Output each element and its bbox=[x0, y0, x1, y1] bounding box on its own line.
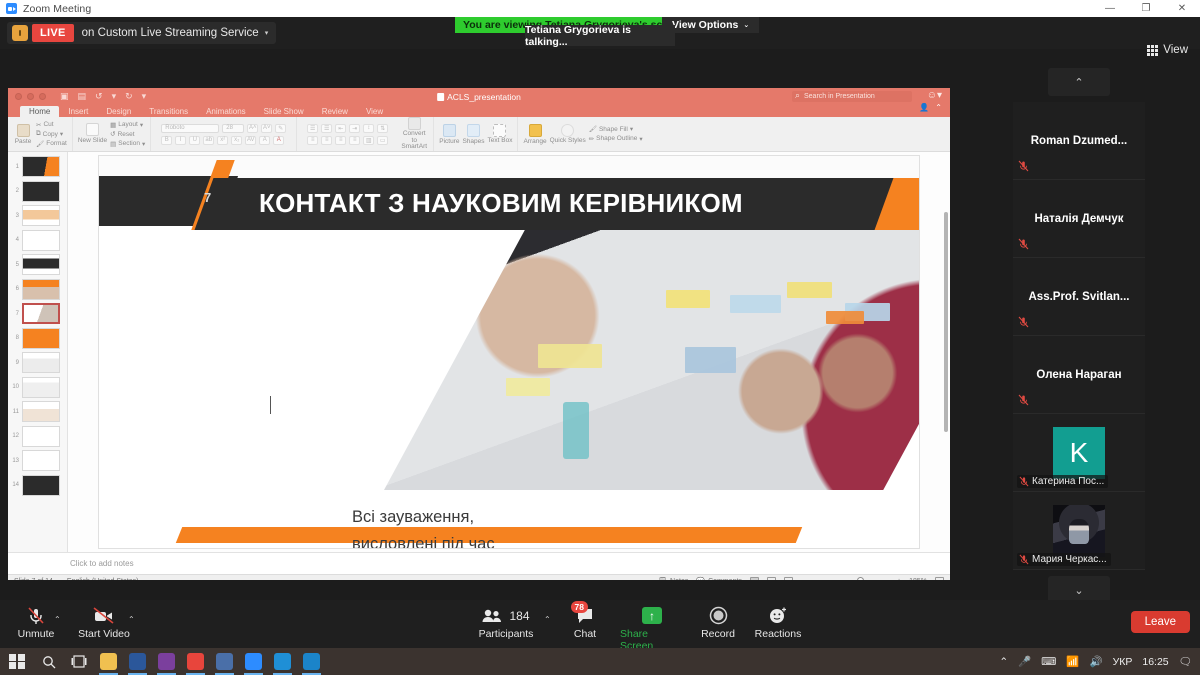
chat-bubble-icon: 78 bbox=[576, 605, 594, 626]
text-effects-icon[interactable]: A bbox=[259, 136, 270, 145]
qat-redo-caret-icon[interactable]: ▾ bbox=[142, 91, 147, 102]
subscript-icon[interactable]: x₂ bbox=[231, 136, 242, 145]
slide-thumbnail-preview[interactable] bbox=[22, 303, 60, 324]
strikethrough-icon[interactable]: ab bbox=[203, 136, 214, 145]
powerpoint-status-bar: Slide 7 of 14 English (United States) 🗒 … bbox=[8, 574, 950, 580]
mac-window-buttons[interactable] bbox=[15, 93, 46, 100]
clear-formatting-icon[interactable]: ✎ bbox=[275, 124, 286, 133]
increase-indent-icon[interactable]: ⇥ bbox=[349, 124, 360, 133]
video-options-caret-icon[interactable]: ⌃ bbox=[128, 615, 135, 624]
mic-muted-icon bbox=[1019, 554, 1029, 565]
slide-body-line: Всі зауваження, bbox=[352, 504, 627, 531]
keyboard-icon[interactable]: ⌨ bbox=[1041, 656, 1056, 668]
notes-icon: 🗒 bbox=[658, 577, 667, 580]
smartart-label: Convert to SmartArt bbox=[400, 131, 428, 151]
arrange-button[interactable]: Arrange bbox=[523, 124, 546, 145]
view-reading-button[interactable] bbox=[784, 577, 793, 580]
grid-icon bbox=[1147, 45, 1158, 56]
copy-label: Copy bbox=[43, 131, 58, 138]
ribbon[interactable]: 👤 ⌃ Paste ✂ Cut ⧉ Copy ▾ 🖌 Format bbox=[8, 117, 950, 152]
avatar: K bbox=[1053, 427, 1105, 479]
paste-label: Paste bbox=[15, 138, 32, 145]
qat-redo-icon[interactable]: ↻ bbox=[125, 91, 133, 102]
align-center-icon[interactable]: ≡ bbox=[321, 136, 332, 145]
shapes-icon bbox=[467, 124, 480, 137]
edge-icon[interactable] bbox=[297, 648, 326, 675]
numbering-icon[interactable]: ☰ bbox=[321, 124, 332, 133]
comment-icon: 💬 bbox=[696, 577, 705, 580]
slide-thumbnail-item[interactable]: 3 bbox=[8, 205, 67, 226]
convert-to-smartart-button[interactable]: Convert to SmartArt bbox=[400, 117, 428, 151]
arrange-label: Arrange bbox=[523, 138, 546, 145]
slide-thumbnail-item[interactable]: 9 bbox=[8, 352, 67, 373]
shape-format-actions[interactable]: 🖌 Shape Fill ▾ ✏ Shape Outline ▾ bbox=[589, 125, 643, 143]
format-painter-button[interactable]: 🖌 Format bbox=[36, 140, 67, 148]
copy-button[interactable]: ⧉ Copy ▾ bbox=[36, 130, 67, 138]
ribbon-group-drawing: Arrange Quick Styles 🖌 Shape Fill ▾ ✏ Sh… bbox=[518, 117, 647, 151]
zoom-icon[interactable] bbox=[239, 648, 268, 675]
quick-styles-button[interactable]: Quick Styles bbox=[550, 124, 586, 145]
live-streaming-indicator[interactable]: LIVE on Custom Live Streaming Service ▾ bbox=[7, 22, 276, 44]
game-icon[interactable] bbox=[210, 648, 239, 675]
notes-pane[interactable]: Click to add notes bbox=[8, 552, 950, 574]
chat-unread-badge: 78 bbox=[571, 601, 588, 613]
slide-canvas[interactable]: 7 КОНТАКТ З НАУКОВИМ КЕРІВНИКОМ bbox=[68, 152, 950, 552]
mic-muted-icon bbox=[27, 605, 45, 626]
security-shield-icon bbox=[12, 25, 28, 41]
windows-taskbar: ⌃ 🎤 ⌨ 📶 🔊 УКР 16:25 🗨 bbox=[0, 648, 1200, 675]
quick-styles-icon bbox=[561, 124, 574, 137]
slide-thumbnail-number: 6 bbox=[10, 286, 19, 292]
close-button[interactable]: ✕ bbox=[1164, 0, 1200, 17]
shape-outline-button[interactable]: ✏ Shape Outline ▾ bbox=[589, 135, 643, 143]
slide-number-label: 7 bbox=[204, 190, 211, 205]
slide-actions[interactable]: ▦ Layout ▾ ↺ Reset ▤ Section ▾ bbox=[110, 121, 145, 148]
slide-position-label: Slide 7 of 14 bbox=[14, 578, 53, 581]
people-icon: 184 bbox=[482, 605, 529, 626]
align-left-icon[interactable]: ≡ bbox=[307, 136, 318, 145]
new-slide-button[interactable]: New Slide bbox=[78, 123, 107, 144]
section-button[interactable]: ▤ Section ▾ bbox=[110, 140, 145, 148]
reactions-label: Reactions bbox=[755, 628, 802, 640]
language-label: English (United States) bbox=[67, 578, 139, 581]
slide-thumbnail-number: 10 bbox=[10, 384, 19, 390]
ribbon-group-paragraph: ☰ ☰ ⇤ ⇥ ↕ ⇅ ≡ ≡ ≡ ≡ ▥ ▭ bbox=[297, 117, 434, 151]
shape-fill-label: Shape Fill bbox=[599, 126, 628, 133]
audio-options-caret-icon[interactable]: ⌃ bbox=[54, 615, 61, 624]
view-normal-button[interactable] bbox=[750, 577, 759, 580]
ribbon-group-clipboard: Paste ✂ Cut ⧉ Copy ▾ 🖌 Format bbox=[8, 117, 73, 151]
comments-label: Comments bbox=[708, 578, 742, 581]
wifi-icon[interactable]: 📶 bbox=[1066, 655, 1079, 668]
view-layout-button[interactable]: View bbox=[1143, 40, 1192, 60]
unmute-label: Unmute bbox=[18, 628, 55, 640]
qat-view-icon[interactable]: ▣ bbox=[60, 91, 69, 102]
share-screen-icon: ↑ bbox=[642, 605, 662, 626]
notes-label: Notes bbox=[670, 578, 688, 581]
tab-home[interactable]: Home bbox=[20, 106, 59, 117]
ribbon-collapse-icon[interactable]: ⌃ bbox=[935, 103, 942, 112]
slide-thumbnail-number: 13 bbox=[10, 458, 19, 464]
account-icon[interactable]: ☺▾ bbox=[927, 90, 942, 101]
share-person-icon: 👤 bbox=[919, 103, 929, 112]
section-label: Section bbox=[118, 140, 140, 147]
slide-thumbnail-preview[interactable] bbox=[22, 328, 60, 349]
window-titlebar: Zoom Meeting — ❐ ✕ bbox=[0, 0, 1200, 17]
current-slide[interactable]: 7 КОНТАКТ З НАУКОВИМ КЕРІВНИКОМ bbox=[99, 156, 919, 548]
search-input[interactable]: Search in Presentation bbox=[792, 91, 912, 102]
slide-thumbnail-preview[interactable] bbox=[22, 230, 60, 251]
text-direction-icon[interactable]: ⇅ bbox=[377, 124, 388, 133]
slide-thumbnail-preview[interactable] bbox=[22, 401, 60, 422]
clipboard-actions[interactable]: ✂ Cut ⧉ Copy ▾ 🖌 Format bbox=[36, 121, 67, 148]
start-video-button[interactable]: Start Video bbox=[72, 605, 136, 640]
tab-animations[interactable]: Animations bbox=[197, 107, 255, 117]
zoom-meeting-window: Zoom Meeting — ❐ ✕ LIVE on Custom Live S… bbox=[0, 0, 1200, 675]
meeting-toolbar: Unmute ⌃ Start Video ⌃ 184 Participants … bbox=[0, 600, 1200, 648]
status-right-group: 🗒 Notes 💬 Comments − + 185% bbox=[658, 577, 944, 580]
shapes-button[interactable]: Shapes bbox=[462, 124, 484, 145]
slide-thumbnail-number: 4 bbox=[10, 237, 19, 243]
slide-thumbnail-number: 8 bbox=[10, 335, 19, 341]
participant-tile[interactable]: Roman Dzumed... bbox=[1013, 102, 1145, 180]
chat-label: Chat bbox=[574, 628, 596, 640]
align-text-icon[interactable]: ▭ bbox=[377, 136, 388, 145]
slide-body-line: висловлені під час bbox=[352, 531, 627, 548]
font-name-input[interactable]: Roboto bbox=[161, 124, 219, 133]
shape-fill-button[interactable]: 🖌 Shape Fill ▾ bbox=[589, 125, 643, 133]
slide-thumbnail-preview[interactable] bbox=[22, 205, 60, 226]
format-label: Format bbox=[46, 140, 67, 147]
zoom-out-button[interactable]: − bbox=[801, 578, 805, 581]
maximize-button[interactable]: ❐ bbox=[1128, 0, 1164, 17]
slide-body-text[interactable]: Всі зауваження,висловлені під часобговор… bbox=[352, 504, 627, 548]
slide-thumbnail-number: 12 bbox=[10, 433, 19, 439]
participant-name: Мария Черкас... bbox=[1032, 554, 1107, 565]
mic-muted-icon bbox=[1018, 316, 1029, 331]
justify-icon[interactable]: ≡ bbox=[349, 136, 360, 145]
participant-name: Ass.Prof. Svitlan... bbox=[1029, 291, 1130, 303]
presentation-file-icon bbox=[437, 93, 444, 101]
slide-thumbnail-preview[interactable] bbox=[22, 475, 60, 496]
slide-thumbnail-panel[interactable]: 1234567891011121314 bbox=[8, 152, 68, 552]
slide-thumbnail-item[interactable]: 5 bbox=[8, 254, 67, 275]
participants-caret-icon[interactable]: ⌃ bbox=[544, 615, 551, 624]
tab-transitions[interactable]: Transitions bbox=[140, 107, 197, 117]
tray-expand-icon[interactable]: ⌃ bbox=[999, 656, 1008, 668]
decrease-indent-icon[interactable]: ⇤ bbox=[335, 124, 346, 133]
chrome-icon[interactable] bbox=[181, 648, 210, 675]
notification-icon[interactable]: 🗨 bbox=[1179, 655, 1192, 668]
text-box-label: Text Box bbox=[488, 138, 513, 145]
chat-button[interactable]: 78 Chat bbox=[553, 605, 617, 640]
participant-tile[interactable]: Наталія Демчук bbox=[1013, 180, 1145, 258]
chevron-down-icon[interactable]: ▾ bbox=[265, 29, 277, 37]
camera-off-icon bbox=[93, 605, 115, 626]
tab-insert[interactable]: Insert bbox=[59, 107, 97, 117]
photos-icon[interactable] bbox=[268, 648, 297, 675]
slide-thumbnail-item[interactable]: 6 bbox=[8, 279, 67, 300]
bold-icon[interactable]: B bbox=[161, 136, 172, 145]
participant-tile[interactable]: KКатерина Пос... bbox=[1013, 414, 1145, 492]
notes-toggle-button[interactable]: 🗒 Notes bbox=[658, 577, 688, 580]
document-name-label: ACLS_presentation bbox=[447, 92, 521, 102]
paste-icon bbox=[17, 124, 30, 137]
window-controls: — ❐ ✕ bbox=[1092, 0, 1200, 17]
qat-save-icon[interactable]: ▤ bbox=[78, 91, 87, 102]
record-button[interactable]: Record bbox=[686, 605, 750, 640]
slide-thumbnail-preview[interactable] bbox=[22, 254, 60, 275]
mic-muted-icon bbox=[1018, 238, 1029, 253]
qat-undo-icon[interactable]: ↺ bbox=[95, 91, 103, 102]
slide-thumbnail-preview[interactable] bbox=[22, 450, 60, 471]
picture-label: Picture bbox=[439, 138, 459, 145]
font-color-icon[interactable]: A bbox=[273, 136, 284, 145]
smiley-plus-icon bbox=[768, 605, 788, 626]
ribbon-group-font: Roboto 28 A˄ A˅ ✎ B I U ab x² x₂ AV bbox=[151, 117, 297, 151]
text-box-button[interactable]: Text Box bbox=[488, 124, 513, 145]
view-options-label: View Options bbox=[672, 19, 738, 31]
powerpoint-titlebar: ▣ ▤ ↺ ▾ ↻ ▾ ACLS_presentation Search in … bbox=[8, 88, 950, 105]
view-options-button[interactable]: View Options ⌄ bbox=[662, 17, 759, 33]
share-button[interactable]: 👤 ⌃ bbox=[919, 103, 942, 112]
slide-thumbnail-number: 5 bbox=[10, 262, 19, 268]
character-spacing-icon[interactable]: AV bbox=[245, 136, 256, 145]
slide-thumbnail-number: 1 bbox=[10, 164, 19, 170]
slide-thumbnail-item[interactable]: 14 bbox=[8, 475, 67, 496]
zoom-in-button[interactable]: + bbox=[897, 578, 901, 581]
line-spacing-icon[interactable]: ↕ bbox=[363, 124, 374, 133]
slide-thumbnail-preview[interactable] bbox=[22, 181, 60, 202]
shared-screen-powerpoint[interactable]: ▣ ▤ ↺ ▾ ↻ ▾ ACLS_presentation Search in … bbox=[8, 88, 950, 580]
microphone-icon[interactable]: 🎤 bbox=[1018, 655, 1031, 668]
word-icon[interactable] bbox=[123, 648, 152, 675]
cut-label: Cut bbox=[43, 121, 53, 128]
paragraph-row-2[interactable]: ≡ ≡ ≡ ≡ ▥ ▭ bbox=[307, 136, 388, 145]
system-tray: ⌃ 🎤 ⌨ 📶 🔊 УКР 16:25 🗨 bbox=[999, 655, 1192, 668]
paragraph-row-1[interactable]: ☰ ☰ ⇤ ⇥ ↕ ⇅ bbox=[307, 124, 388, 133]
slide-thumbnail-item[interactable]: 10 bbox=[8, 377, 67, 398]
picture-button[interactable]: Picture bbox=[439, 124, 459, 145]
slide-thumbnail-item[interactable]: 4 bbox=[8, 230, 67, 251]
fit-to-window-button[interactable] bbox=[935, 577, 944, 580]
text-cursor bbox=[270, 396, 271, 414]
layout-label: Layout bbox=[118, 121, 138, 128]
comments-toggle-button[interactable]: 💬 Comments bbox=[696, 577, 742, 580]
font-controls-row[interactable]: Roboto 28 A˄ A˅ ✎ bbox=[161, 124, 286, 133]
picture-icon bbox=[443, 124, 456, 137]
view-button-label: View bbox=[1163, 44, 1188, 56]
participant-tile[interactable]: Мария Черкас... bbox=[1013, 492, 1145, 570]
tab-slide-show[interactable]: Slide Show bbox=[255, 107, 313, 117]
ribbon-group-insert: Picture Shapes Text Box bbox=[434, 117, 518, 151]
ribbon-tabs[interactable]: Home Insert Design Transitions Animation… bbox=[8, 105, 950, 117]
slide-thumbnail-number: 3 bbox=[10, 213, 19, 219]
slide-thumbnail-item[interactable]: 12 bbox=[8, 426, 67, 447]
slide-thumbnail-number: 14 bbox=[10, 482, 19, 488]
participants-button[interactable]: 184 Participants bbox=[474, 605, 538, 640]
participants-count: 184 bbox=[509, 609, 529, 623]
layout-button[interactable]: ▦ Layout ▾ bbox=[110, 121, 145, 129]
participant-name: Катерина Пос... bbox=[1032, 476, 1104, 487]
document-name: ACLS_presentation bbox=[437, 92, 521, 102]
volume-icon[interactable]: 🔊 bbox=[1090, 655, 1103, 668]
participant-name-label: Мария Черкас... bbox=[1017, 553, 1111, 566]
participant-tile[interactable]: Олена Нараган bbox=[1013, 336, 1145, 414]
slide-thumbnail-item[interactable]: 7 bbox=[8, 303, 67, 324]
search-icon[interactable] bbox=[34, 655, 64, 669]
participant-video bbox=[1053, 505, 1105, 557]
participant-tile[interactable]: Ass.Prof. Svitlan... bbox=[1013, 258, 1145, 336]
participant-name: Roman Dzumed... bbox=[1031, 135, 1127, 147]
slide-thumbnail-preview[interactable] bbox=[22, 279, 60, 300]
qat-undo-caret-icon[interactable]: ▾ bbox=[112, 91, 117, 102]
smartart-icon bbox=[408, 117, 421, 130]
participant-name: Наталія Демчук bbox=[1034, 213, 1123, 225]
slide-photo-image bbox=[384, 230, 919, 490]
slide-thumbnail-number: 7 bbox=[10, 311, 19, 317]
arrange-icon bbox=[529, 124, 542, 137]
new-slide-icon bbox=[86, 123, 99, 136]
record-label: Record bbox=[701, 628, 735, 640]
slide-title[interactable]: КОНТАКТ З НАУКОВИМ КЕРІВНИКОМ bbox=[259, 188, 899, 219]
slide-thumbnail-item[interactable]: 11 bbox=[8, 401, 67, 422]
quick-access-toolbar[interactable]: ▣ ▤ ↺ ▾ ↻ ▾ bbox=[60, 91, 146, 102]
live-badge: LIVE bbox=[32, 24, 74, 42]
mic-muted-icon bbox=[1019, 476, 1029, 487]
slide-thumbnail-item[interactable]: 13 bbox=[8, 450, 67, 471]
align-right-icon[interactable]: ≡ bbox=[335, 136, 346, 145]
live-service-label: on Custom Live Streaming Service bbox=[74, 27, 265, 39]
clock[interactable]: 16:25 bbox=[1142, 656, 1168, 668]
shapes-label: Shapes bbox=[462, 138, 484, 145]
zoom-level-label: 185% bbox=[909, 578, 927, 581]
tab-design[interactable]: Design bbox=[97, 107, 140, 117]
slide-thumbnail-item[interactable]: 8 bbox=[8, 328, 67, 349]
start-video-label: Start Video bbox=[78, 628, 130, 640]
share-screen-button[interactable]: ↑ Share Screen bbox=[620, 605, 684, 652]
windows-start-icon[interactable] bbox=[0, 654, 34, 670]
minimize-button[interactable]: — bbox=[1092, 0, 1128, 17]
slide-thumbnail-preview[interactable] bbox=[22, 352, 60, 373]
quick-styles-label: Quick Styles bbox=[550, 138, 586, 145]
slide-thumbnail-number: 9 bbox=[10, 360, 19, 366]
slide-photo bbox=[384, 230, 919, 490]
underline-icon[interactable]: U bbox=[189, 136, 200, 145]
task-view-icon[interactable] bbox=[64, 655, 94, 668]
mic-muted-icon bbox=[1018, 394, 1029, 409]
slide-scrollbar[interactable] bbox=[944, 212, 948, 432]
chevron-down-icon: ⌄ bbox=[743, 21, 749, 29]
zoom-icon bbox=[6, 3, 17, 14]
viber-icon[interactable] bbox=[152, 648, 181, 675]
ribbon-group-slides: New Slide ▦ Layout ▾ ↺ Reset ▤ Section ▾ bbox=[73, 117, 151, 151]
leave-button[interactable]: Leave bbox=[1131, 611, 1190, 633]
tab-review[interactable]: Review bbox=[313, 107, 357, 117]
increase-font-icon[interactable]: A˄ bbox=[247, 124, 258, 133]
slide-thumbnail-preview[interactable] bbox=[22, 156, 60, 177]
view-slide-sorter-button[interactable] bbox=[767, 577, 776, 580]
cut-button[interactable]: ✂ Cut bbox=[36, 121, 67, 129]
text-box-icon bbox=[493, 124, 506, 137]
new-slide-label: New Slide bbox=[78, 137, 107, 144]
bullets-icon[interactable]: ☰ bbox=[307, 124, 318, 133]
decrease-font-icon[interactable]: A˅ bbox=[261, 124, 272, 133]
record-circle-icon bbox=[709, 605, 728, 626]
editor-body: 1234567891011121314 7 КОНТАКТ З НАУКОВИМ… bbox=[8, 152, 950, 552]
slide-thumbnail-item[interactable]: 2 bbox=[8, 181, 67, 202]
text-format-row[interactable]: B I U ab x² x₂ AV A A bbox=[161, 136, 286, 145]
slide-thumbnail-preview[interactable] bbox=[22, 377, 60, 398]
slide-thumbnail-item[interactable]: 1 bbox=[8, 156, 67, 177]
slide-thumbnail-preview[interactable] bbox=[22, 426, 60, 447]
reset-label: Reset bbox=[118, 131, 135, 138]
mic-muted-icon bbox=[1018, 160, 1029, 175]
font-size-input[interactable]: 28 bbox=[222, 124, 244, 133]
window-title: Zoom Meeting bbox=[23, 3, 91, 15]
participant-name-label: Катерина Пос... bbox=[1017, 475, 1108, 488]
slide-thumbnail-number: 11 bbox=[10, 409, 19, 415]
active-speaker-notice: Tetiana Grygorieva is talking... bbox=[525, 25, 675, 46]
columns-icon[interactable]: ▥ bbox=[363, 136, 374, 145]
zoom-slider-handle[interactable] bbox=[857, 577, 864, 580]
superscript-icon[interactable]: x² bbox=[217, 136, 228, 145]
participants-label: Participants bbox=[479, 628, 534, 640]
reactions-button[interactable]: Reactions bbox=[746, 605, 810, 640]
filmstrip-scroll-up-button[interactable]: ⌃ bbox=[1048, 68, 1110, 96]
paste-button[interactable]: Paste bbox=[13, 124, 33, 145]
participant-filmstrip[interactable]: ⌃ Roman Dzumed...Наталія ДемчукAss.Prof.… bbox=[1013, 68, 1145, 610]
reset-button[interactable]: ↺ Reset bbox=[110, 130, 145, 138]
slide-thumbnail-number: 2 bbox=[10, 188, 19, 194]
italic-icon[interactable]: I bbox=[175, 136, 186, 145]
file-explorer-icon[interactable] bbox=[94, 648, 123, 675]
shape-outline-label: Shape Outline bbox=[596, 135, 637, 142]
language-indicator[interactable]: УКР bbox=[1113, 656, 1133, 668]
tab-view[interactable]: View bbox=[357, 107, 392, 117]
participant-name: Олена Нараган bbox=[1036, 369, 1121, 381]
